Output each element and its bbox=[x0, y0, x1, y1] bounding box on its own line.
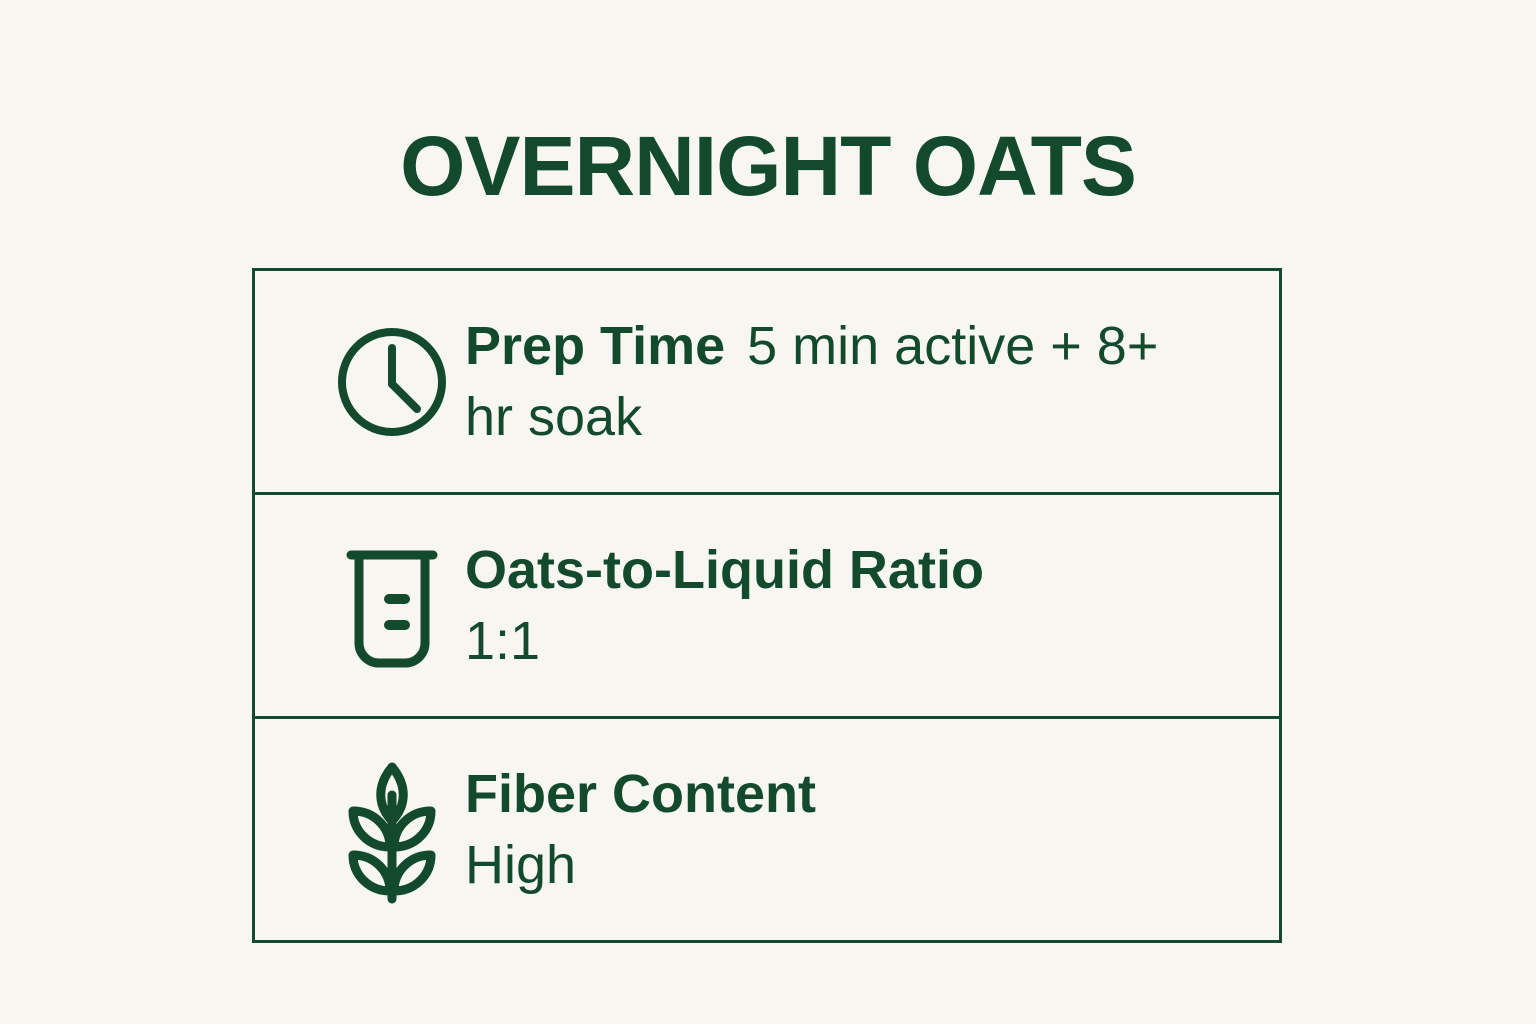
beaker-icon bbox=[333, 531, 453, 681]
spec-label-prep-time: Prep Time bbox=[465, 316, 725, 376]
clock-icon bbox=[333, 307, 453, 457]
spec-text-fiber-content: Fiber ContentHigh bbox=[453, 759, 1225, 901]
spec-text-prep-time: Prep Time5 min active + 8+ hr soak bbox=[453, 311, 1165, 453]
wheat-icon bbox=[333, 755, 453, 905]
spec-row-oats-to-liquid-ratio: Oats-to-Liquid Ratio1:1 bbox=[255, 495, 1279, 719]
spec-label-fiber-content: Fiber Content bbox=[465, 764, 816, 824]
spec-value-oats-to-liquid-ratio: 1:1 bbox=[465, 611, 540, 671]
spec-row-prep-time: Prep Time5 min active + 8+ hr soak bbox=[255, 271, 1279, 495]
spec-label-oats-to-liquid-ratio: Oats-to-Liquid Ratio bbox=[465, 540, 984, 600]
spec-value-fiber-content: High bbox=[465, 835, 576, 895]
spec-text-oats-to-liquid-ratio: Oats-to-Liquid Ratio1:1 bbox=[453, 535, 1225, 677]
page-title: OVERNIGHT OATS bbox=[0, 118, 1536, 214]
spec-row-fiber-content: Fiber ContentHigh bbox=[255, 719, 1279, 940]
spec-table: Prep Time5 min active + 8+ hr soak Oats-… bbox=[252, 268, 1282, 943]
recipe-spec-card: OVERNIGHT OATS Prep Time5 min active + 8… bbox=[0, 0, 1536, 1024]
